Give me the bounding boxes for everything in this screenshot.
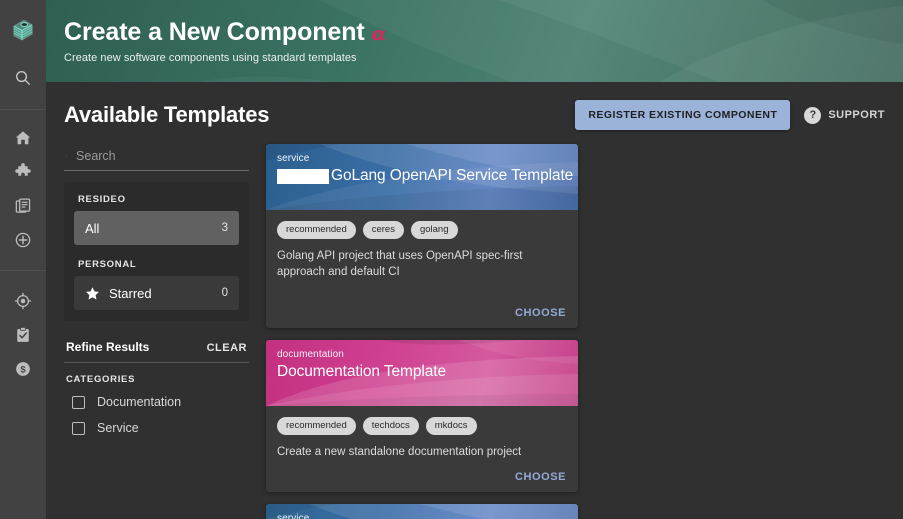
search-icon [14,69,32,87]
banner-text: Create a New Component α Create new soft… [46,0,903,64]
header-actions: REGISTER EXISTING COMPONENT ? SUPPORT [575,100,885,130]
support-link[interactable]: ? SUPPORT [804,107,885,124]
refine-results: Refine Results CLEAR CATEGORIES Document… [64,340,249,441]
tag: golang [411,221,458,239]
template-card-body: recommended ceres golang Golang API proj… [266,210,578,296]
filter-group-label-personal: PERSONAL [78,259,239,270]
register-existing-component-button[interactable]: REGISTER EXISTING COMPONENT [575,100,790,130]
template-title: GoLang OpenAPI Service Template [331,167,573,185]
categories-label: CATEGORIES [66,374,249,385]
template-card-header: service GoLang OpenAPI Service Template [266,144,578,210]
template-title-row: GoLang OpenAPI Service Template [277,167,578,185]
filter-item-starred-count: 0 [222,287,228,299]
app-root: $ Create a New Component α Create new [0,0,903,519]
filter-item-starred[interactable]: Starred 0 [74,276,239,310]
template-title: Documentation Template [277,363,446,381]
content-columns: RESIDEO All 3 PERSONAL [64,144,885,519]
sidebar-item-docs[interactable] [0,189,46,223]
dollar-circle-icon: $ [14,360,32,378]
category-checkbox-documentation[interactable]: Documentation [64,389,249,415]
question-circle-icon: ? [804,107,821,124]
category-checkbox-service[interactable]: Service [64,415,249,441]
search-icon [66,148,67,163]
template-kind: service [277,513,578,519]
content-header: Available Templates REGISTER EXISTING CO… [64,98,885,132]
backstage-layers-logo[interactable] [0,6,46,54]
banner-subtitle: Create new software components using sta… [64,52,903,64]
template-card-footer: CHOOSE [266,296,578,328]
template-card-header: documentation Documentation Template [266,340,578,406]
template-description: Golang API project that uses OpenAPI spe… [277,248,567,280]
sidebar-item-cost-insights[interactable]: $ [0,352,46,386]
svg-text:$: $ [20,365,26,376]
filter-groups: RESIDEO All 3 PERSONAL [64,182,249,321]
template-card-body: recommended techdocs mkdocs Create a new… [266,406,578,460]
template-card[interactable]: service GoLang OpenAPI Service Template [266,144,578,328]
template-tags: recommended techdocs mkdocs [277,417,567,435]
template-card-header: service GraphQL Federated Node.js Servic… [266,504,578,519]
sidebar-item-explore[interactable] [0,284,46,318]
support-label: SUPPORT [828,109,885,121]
category-label-service: Service [97,421,139,435]
page-title-banner: Create a New Component α [64,17,903,49]
template-card-header-text: service GraphQL Federated Node.js Servic… [266,504,578,519]
sidebar: $ [0,0,46,519]
template-card-footer: CHOOSE [266,460,578,492]
filter-item-all[interactable]: All 3 [74,211,239,245]
refine-title: Refine Results [66,340,149,354]
template-title-row: Documentation Template [277,363,578,381]
tag: recommended [277,417,356,435]
template-card[interactable]: service GraphQL Federated Node.js Servic… [266,504,578,519]
tag: recommended [277,221,356,239]
refine-header: Refine Results CLEAR [64,340,249,363]
choose-button[interactable]: CHOOSE [515,471,566,483]
sidebar-item-tasks[interactable] [0,318,46,352]
main-area: Create a New Component α Create new soft… [46,0,903,519]
sidebar-search-button[interactable] [0,54,46,102]
sidebar-item-create[interactable] [0,223,46,257]
clipboard-check-icon [14,326,32,344]
tag: techdocs [363,417,419,435]
clear-filters-button[interactable]: CLEAR [207,342,247,354]
content: Available Templates REGISTER EXISTING CO… [46,82,903,519]
template-cards: service GoLang OpenAPI Service Template [266,144,885,519]
sidebar-group-primary [0,110,46,257]
banner-title-text: Create a New Component [64,17,365,47]
search-input[interactable] [76,149,237,163]
tag: mkdocs [426,417,477,435]
template-tags: recommended ceres golang [277,221,567,239]
choose-button[interactable]: CHOOSE [515,307,566,319]
filter-item-starred-label: Starred [109,286,222,301]
template-card[interactable]: documentation Documentation Template rec… [266,340,578,492]
template-kind: documentation [277,349,578,360]
alpha-badge: α [372,19,387,49]
filters-panel: RESIDEO All 3 PERSONAL [64,144,249,441]
page-banner: Create a New Component α Create new soft… [46,0,903,82]
plus-circle-icon [14,231,32,249]
search-box[interactable] [64,144,249,171]
home-icon [14,129,32,147]
docs-icon [14,197,32,215]
puzzle-icon [14,163,32,181]
sidebar-group-secondary: $ [0,271,46,386]
star-icon [85,286,100,301]
checkbox-icon[interactable] [72,396,85,409]
template-card-header-text: service GoLang OpenAPI Service Template [266,144,578,185]
checkbox-icon[interactable] [72,422,85,435]
template-description: Create a new standalone documentation pr… [277,444,567,460]
filter-item-all-label: All [85,221,222,236]
sidebar-item-home[interactable] [0,121,46,155]
filter-group-label-resideo: RESIDEO [78,194,239,205]
sidebar-item-extensions[interactable] [0,155,46,189]
filter-item-all-count: 3 [222,222,228,234]
category-label-documentation: Documentation [97,395,181,409]
page-title: Available Templates [64,102,269,128]
redaction-box [277,169,329,184]
template-kind: service [277,153,578,164]
tag: ceres [363,221,404,239]
close-icon[interactable] [246,149,247,163]
backstage-layers-logo-icon [11,17,35,43]
target-icon [14,292,32,310]
template-card-grid: service GoLang OpenAPI Service Template [266,144,885,519]
template-card-header-text: documentation Documentation Template [266,340,578,381]
